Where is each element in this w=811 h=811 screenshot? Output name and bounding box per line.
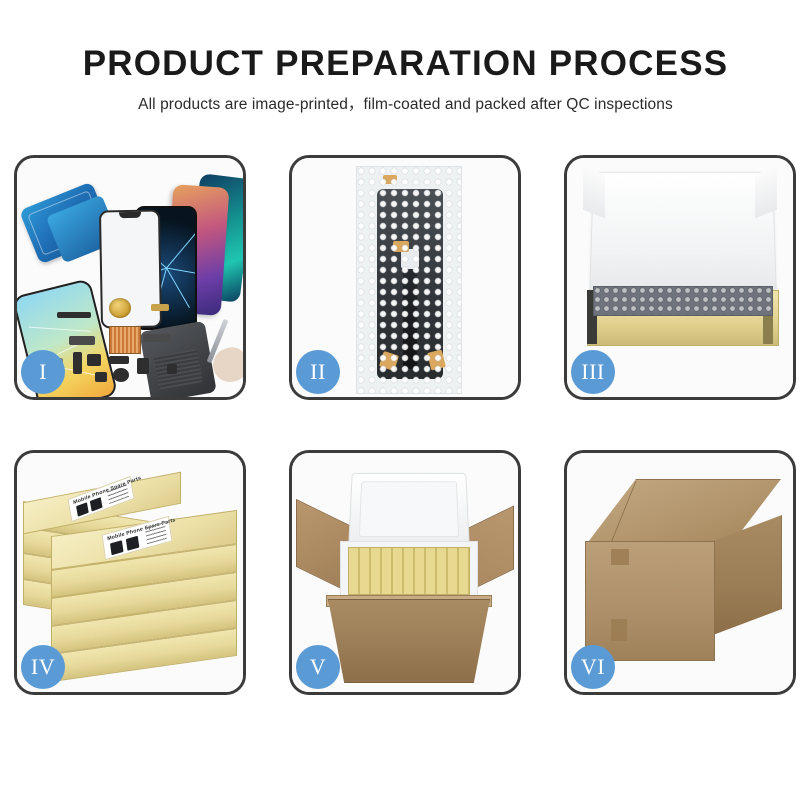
carton-front-face (585, 541, 715, 661)
spare-part (87, 354, 101, 366)
spare-part (69, 336, 95, 345)
step-badge-1: I (21, 350, 65, 394)
spare-part (137, 358, 149, 374)
spare-part (143, 334, 171, 342)
spare-part (167, 364, 177, 374)
step-panel-5[interactable]: V (289, 450, 521, 695)
step-badge-6: VI (571, 645, 615, 689)
step-panel-6[interactable]: VI (564, 450, 796, 695)
crack-line (29, 327, 91, 332)
lid-flap-right (755, 166, 777, 219)
step-badge-2: II (296, 350, 340, 394)
crack-line (166, 232, 196, 268)
step-panel-3[interactable]: III (564, 155, 796, 400)
step-panel-4[interactable]: Mobile Phone Spare Parts Mobile Phone Sp… (14, 450, 246, 695)
carton-body (328, 599, 490, 683)
spare-part (73, 352, 82, 374)
gold-boxes-inside (348, 547, 470, 595)
bubble-texture (357, 167, 461, 393)
crack-line (166, 268, 190, 308)
step-badge-3: III (571, 350, 615, 394)
vibration-motor-part (109, 298, 131, 318)
step-badge-5: V (296, 645, 340, 689)
step-panel-2[interactable]: II (289, 155, 521, 400)
label-product-image (76, 502, 89, 516)
spare-part (95, 372, 107, 382)
notch-shape (119, 212, 141, 218)
foam-lid (348, 473, 470, 547)
page-header: PRODUCT PREPARATION PROCESS All products… (0, 0, 811, 114)
carton-tape-mark (611, 619, 627, 641)
spare-part (151, 304, 169, 311)
step-badge-4: IV (21, 645, 65, 689)
spare-part (109, 356, 129, 364)
spare-part (57, 312, 91, 318)
process-steps-grid: I II III (14, 155, 797, 695)
lid-flap-left (583, 166, 605, 219)
bubble-wrapped-contents (593, 286, 773, 316)
ic-chip-grid (109, 326, 141, 354)
label-product-image (126, 536, 140, 551)
phone-back-housing (139, 321, 216, 397)
spare-part (113, 368, 129, 382)
page-subtitle: All products are image-printed，film-coat… (0, 92, 811, 114)
page-title: PRODUCT PREPARATION PROCESS (0, 46, 811, 83)
white-box-lid (589, 172, 777, 303)
label-product-image (110, 540, 124, 555)
bubble-wrap-bag (356, 166, 462, 394)
carton-tape-mark (611, 549, 629, 565)
label-product-image (90, 497, 103, 511)
step-panel-1[interactable]: I (14, 155, 246, 400)
